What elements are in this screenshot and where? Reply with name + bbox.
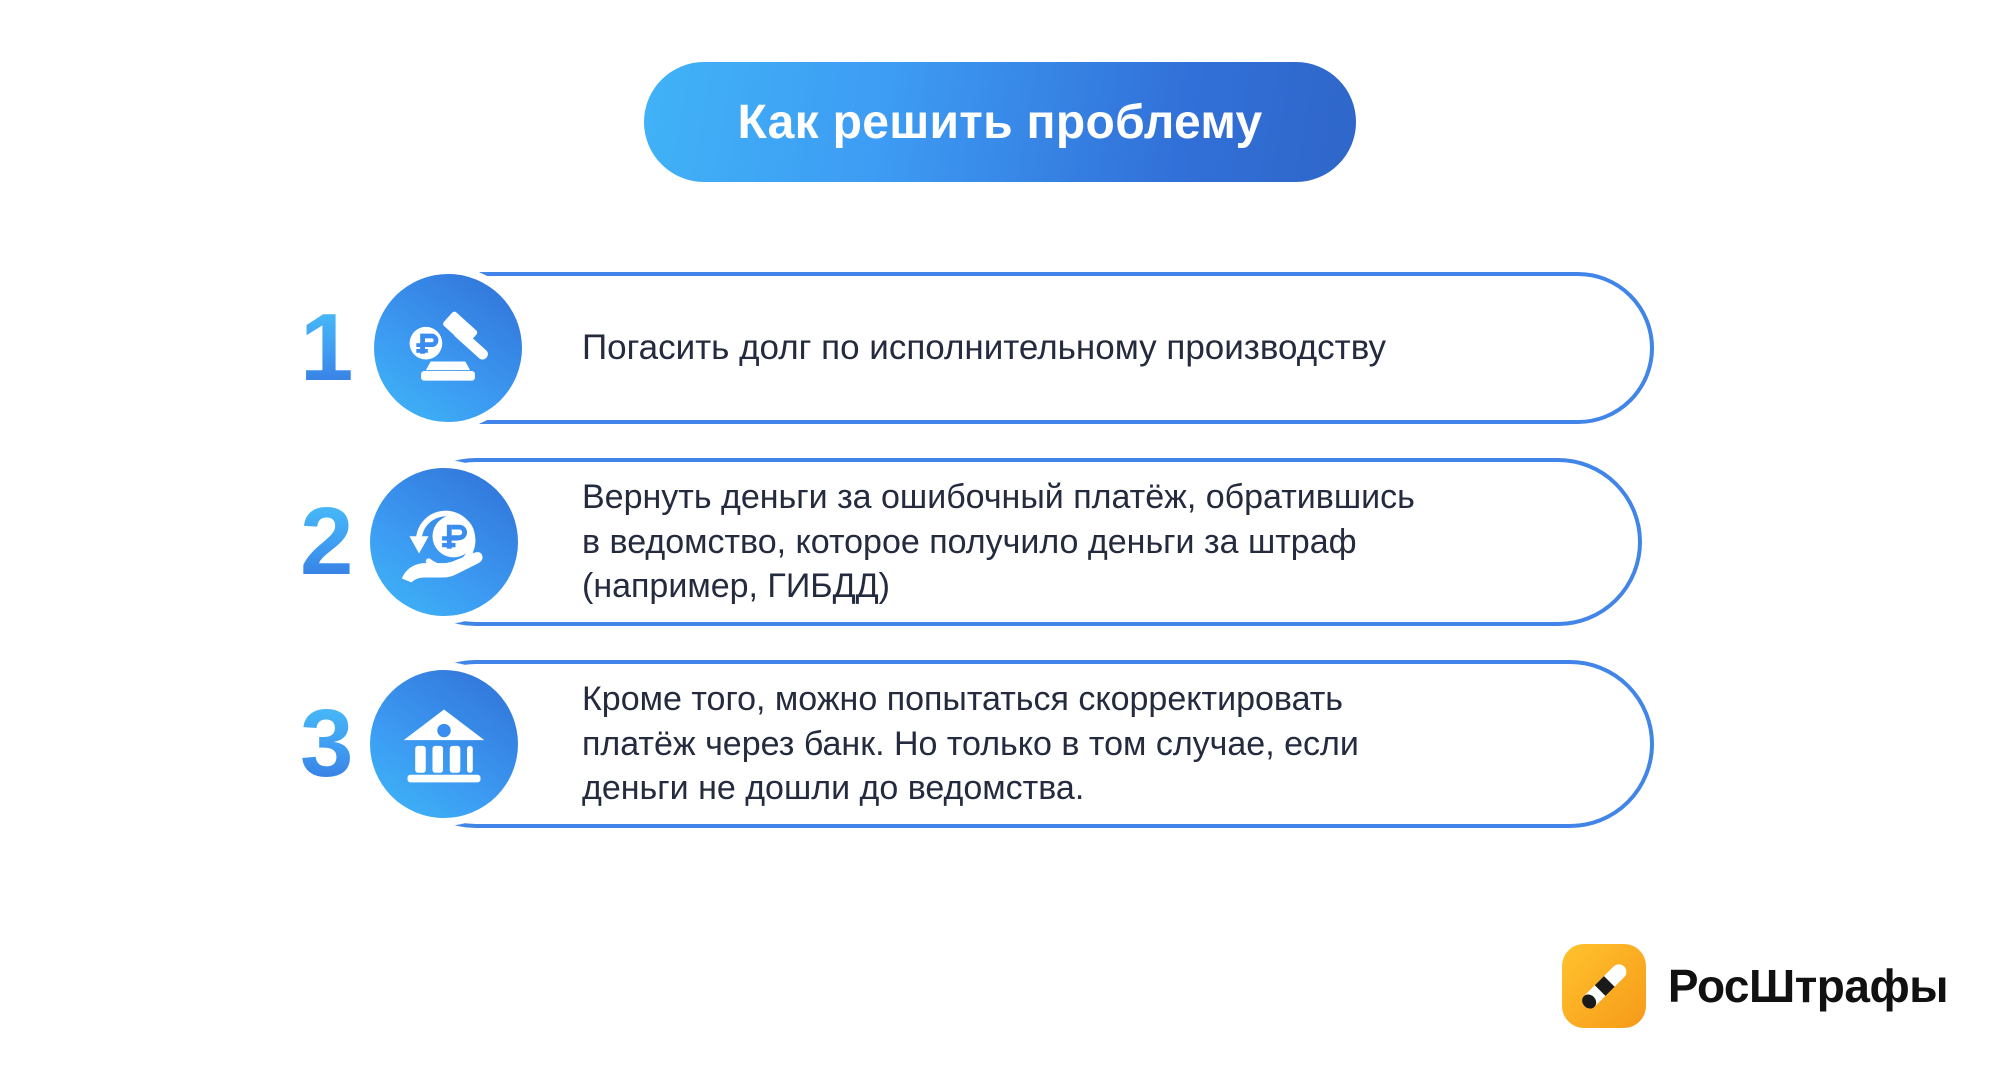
step-card-2: Вернуть деньги за ошибочный платёж, обра… (392, 458, 1642, 626)
brand-logo: РосШтрафы (1562, 944, 1948, 1028)
step-text-3: Кроме того, можно попытаться скорректиро… (396, 677, 1399, 811)
header-pill: Как решить проблему (644, 62, 1356, 182)
brand-name: РосШтрафы (1668, 959, 1948, 1013)
header-area: Как решить проблему (0, 62, 2000, 182)
steps-list: 1 (0, 272, 2000, 862)
step-row: 3 (0, 660, 2000, 828)
step-text-2: Вернуть деньги за ошибочный платёж, обра… (396, 475, 1455, 609)
bank-building-icon (370, 670, 518, 818)
page-title: Как решить проблему (737, 95, 1262, 150)
gavel-ruble-icon (374, 274, 522, 422)
step-row: 1 (0, 272, 2000, 424)
step-row: 2 (0, 458, 2000, 626)
step-card-1: Погасить долг по исполнительному произво… (392, 272, 1654, 424)
infographic-poster: Как решить проблему 1 (0, 0, 2000, 1086)
hand-ruble-refund-icon (370, 468, 518, 616)
step-card-3: Кроме того, можно попытаться скорректиро… (392, 660, 1654, 828)
step-text-1: Погасить долг по исполнительному произво… (396, 325, 1426, 371)
traffic-baton-icon (1562, 944, 1646, 1028)
